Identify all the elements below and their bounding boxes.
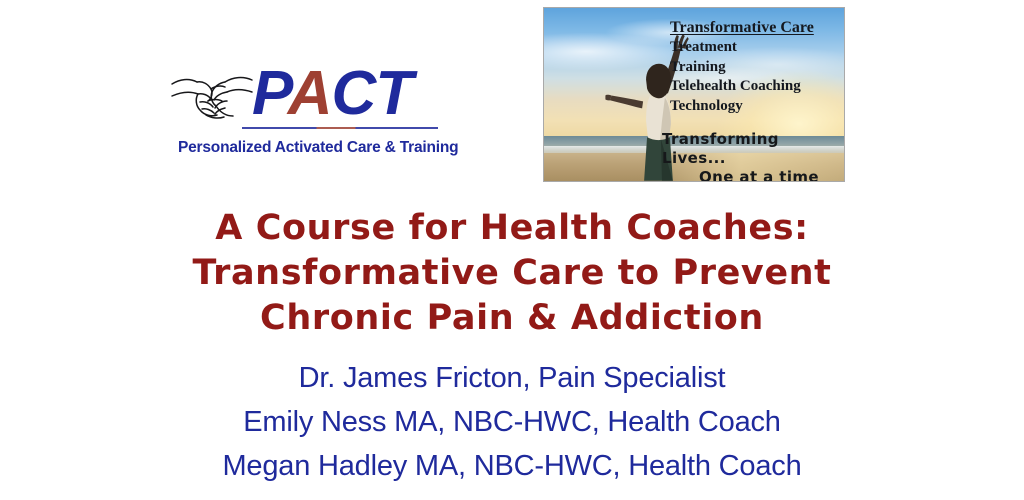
presenter-2: Emily Ness MA, NBC-HWC, Health Coach [0, 400, 1024, 444]
handshake-icon [170, 58, 254, 130]
title-line-1: A Course for Health Coaches: [0, 206, 1024, 251]
presenter-3: Megan Hadley MA, NBC-HWC, Health Coach [0, 444, 1024, 488]
promo-slogan-line-2: One at a time [660, 168, 842, 182]
transformative-care-text-block: Transformative Care Treatment Training T… [670, 18, 842, 116]
presenter-1: Dr. James Fricton, Pain Specialist [0, 356, 1024, 400]
slide-header: PACT Personalized Activated Care & Train… [0, 0, 1024, 190]
pact-wordmark: PACT [252, 60, 412, 128]
promo-slogan: Transforming Lives... One at a time [660, 130, 842, 182]
title-line-3: Chronic Pain & Addiction [0, 296, 1024, 341]
pact-letter-c: C [332, 59, 376, 128]
pact-letter-t: T [375, 59, 412, 128]
presenter-list: Dr. James Fricton, Pain Specialist Emily… [0, 356, 1024, 488]
promo-item-treatment: Treatment [670, 38, 842, 58]
promo-item-technology: Technology [670, 97, 842, 117]
promo-item-training: Training [670, 58, 842, 78]
promo-item-telehealth-coaching: Telehealth Coaching [670, 77, 842, 97]
pact-logo: PACT Personalized Activated Care & Train… [170, 55, 440, 170]
transformative-care-image: Transformative Care Treatment Training T… [543, 7, 845, 182]
title-line-2: Transformative Care to Prevent [0, 251, 1024, 296]
title-slide: PACT Personalized Activated Care & Train… [0, 0, 1024, 500]
pact-underline-rule [242, 127, 438, 129]
pact-tagline: Personalized Activated Care & Training [178, 139, 440, 157]
pact-logo-row: PACT [170, 55, 440, 133]
pact-letter-a: A [288, 59, 332, 128]
pact-letter-p: P [252, 59, 288, 128]
transformative-care-heading: Transformative Care [670, 18, 842, 38]
promo-slogan-line-1: Transforming Lives... [660, 130, 842, 168]
page-title: A Course for Health Coaches: Transformat… [0, 206, 1024, 341]
